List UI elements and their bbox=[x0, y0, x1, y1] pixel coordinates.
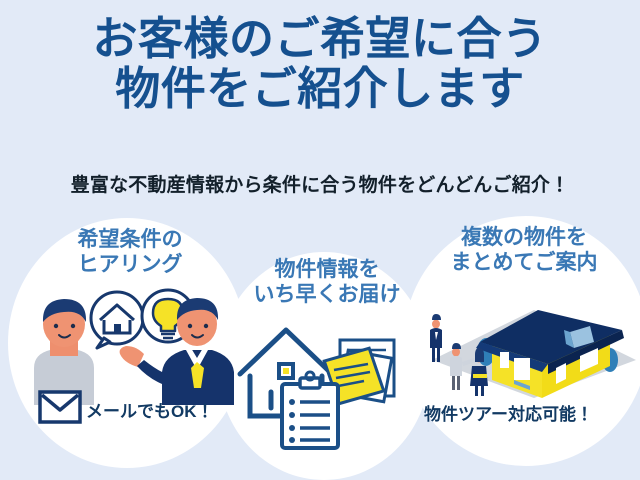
page-title: お客様のご希望に合う 物件をご紹介します bbox=[0, 14, 640, 115]
agent-small-figure bbox=[430, 314, 442, 362]
panel-label-multiple-properties-line-2: まとめてご案内 bbox=[424, 251, 624, 276]
panel-label-multiple-properties: 複数の物件を まとめてご案内 bbox=[424, 226, 624, 276]
panel-label-hearing: 希望条件の ヒアリング bbox=[36, 228, 224, 278]
envelope-icon bbox=[38, 390, 82, 424]
panel-label-hearing-line-2: ヒアリング bbox=[36, 253, 224, 278]
headline-line-2: 物件をご紹介します bbox=[0, 64, 640, 114]
panel-label-hearing-line-1: 希望条件の bbox=[36, 228, 224, 253]
illustration-two-people-speech-bubbles bbox=[20, 280, 240, 405]
promo-poster: お客様のご希望に合う 物件をご紹介します 豊富な不動産情報から条件に合う物件をど… bbox=[0, 0, 640, 480]
panel-label-property-info: 物件情報を いち早くお届け bbox=[238, 258, 416, 308]
subtitle: 豊富な不動産情報から条件に合う物件をどんどんご紹介！ bbox=[0, 170, 640, 197]
panel-label-property-info-line-2: いち早くお届け bbox=[238, 283, 416, 308]
illustration-house-documents-clipboard bbox=[234, 320, 406, 450]
headline-line-1: お客様のご希望に合う bbox=[0, 14, 640, 64]
speech-bubble-house-icon bbox=[91, 292, 143, 348]
clipboard-icon bbox=[282, 372, 338, 448]
caption-email-ok: メールでもOK！ bbox=[86, 397, 214, 422]
panel-label-property-info-line-1: 物件情報を bbox=[238, 258, 416, 283]
illustration-isometric-house-with-people bbox=[414, 286, 640, 404]
caption-property-tour: 物件ツアー対応可能！ bbox=[424, 400, 593, 425]
panel-label-multiple-properties-line-1: 複数の物件を bbox=[424, 226, 624, 251]
